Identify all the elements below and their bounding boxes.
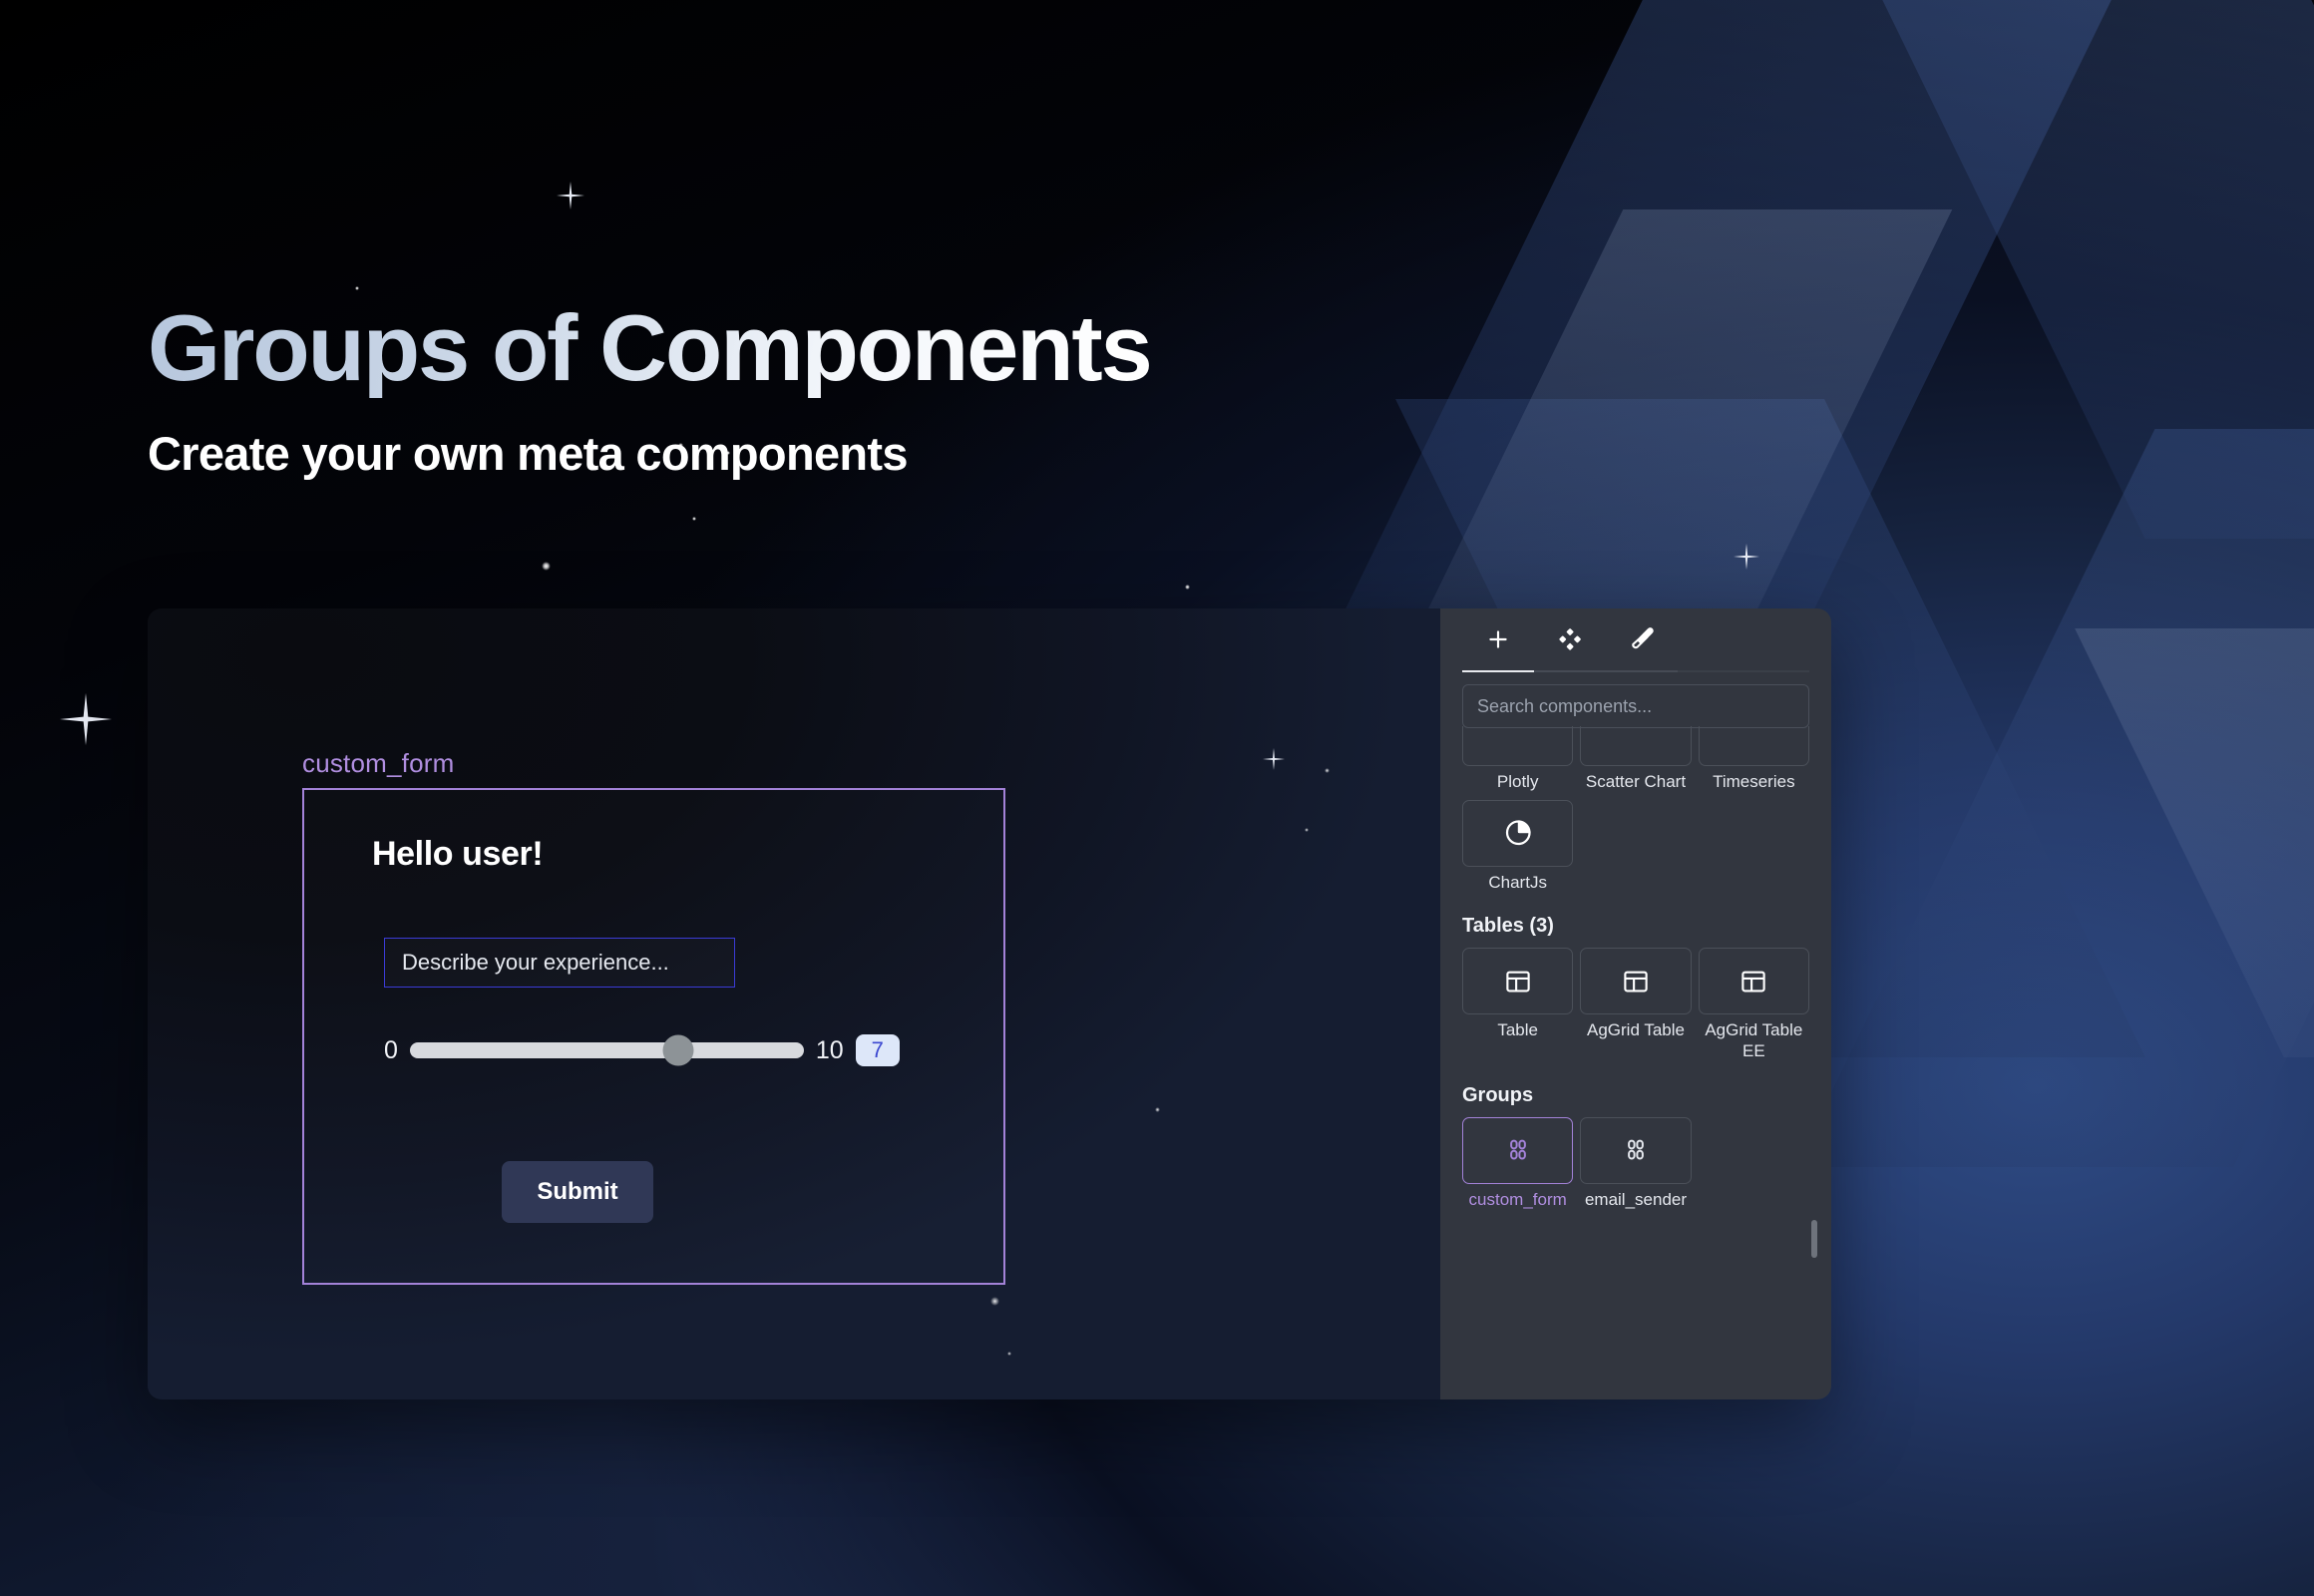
pie-chart-icon: [1503, 818, 1533, 848]
page-root: Groups of Components Create your own met…: [0, 0, 2314, 1596]
scatter-dots-icon: [1621, 726, 1651, 734]
component-group-custom-form[interactable]: custom_form: [1462, 1117, 1573, 1211]
app-window: custom_form Hello user! 0 10 7 Submit: [148, 608, 1831, 1399]
component-tile: [1462, 1117, 1573, 1184]
table-icon: [1621, 967, 1651, 997]
component-timeseries[interactable]: Timeseries: [1699, 726, 1809, 793]
panel-tab-bar: [1440, 608, 1831, 670]
component-label: custom_form: [1469, 1190, 1567, 1211]
component-label: Timeseries: [1713, 772, 1795, 793]
component-label: AgGrid Table: [1587, 1020, 1685, 1041]
panel-scrollbar-thumb[interactable]: [1811, 1220, 1817, 1258]
page-title: Groups of Components: [148, 299, 1151, 398]
component-tile: [1580, 726, 1691, 766]
groups-grid: custom_form email_sender: [1462, 1117, 1809, 1211]
search-input[interactable]: [1462, 684, 1809, 728]
group-icon: [1621, 1135, 1651, 1165]
hero-section: Groups of Components Create your own met…: [148, 299, 1151, 481]
component-label: email_sender: [1585, 1190, 1687, 1211]
slider-track[interactable]: [410, 1042, 804, 1058]
page-subtitle: Create your own meta components: [148, 426, 1151, 481]
slider-value-badge: 7: [856, 1034, 900, 1066]
diamonds-icon: [1557, 626, 1583, 652]
add-component-tab[interactable]: [1462, 614, 1534, 664]
slider-thumb[interactable]: [662, 1035, 693, 1066]
component-aggrid-table[interactable]: AgGrid Table: [1580, 948, 1691, 1061]
experience-text-input[interactable]: [384, 938, 735, 988]
table-icon: [1503, 967, 1533, 997]
component-label: Plotly: [1497, 772, 1539, 793]
component-plotly[interactable]: Plotly: [1462, 726, 1573, 793]
tab-active-indicator: [1462, 670, 1809, 672]
group-icon: [1503, 1135, 1533, 1165]
table-icon: [1738, 967, 1768, 997]
component-tile: [1462, 726, 1573, 766]
section-title-groups: Groups: [1462, 1084, 1809, 1107]
rating-slider-row: 0 10 7: [384, 1034, 900, 1066]
component-chartjs[interactable]: ChartJs: [1462, 800, 1573, 894]
group-container: custom_form Hello user! 0 10 7 Submit: [302, 748, 1005, 1285]
panel-scroll-area[interactable]: Plotly Scatter Chart: [1440, 726, 1831, 1399]
submit-button[interactable]: Submit: [502, 1161, 653, 1223]
component-label: Scatter Chart: [1586, 772, 1686, 793]
app-canvas[interactable]: custom_form Hello user! 0 10 7 Submit: [148, 608, 1440, 1399]
component-scatter-chart[interactable]: Scatter Chart: [1580, 726, 1691, 793]
charts-row-clipped: Plotly Scatter Chart: [1462, 726, 1809, 793]
group-box[interactable]: Hello user! 0 10 7 Submit: [302, 788, 1005, 1285]
search-wrapper: [1440, 672, 1831, 728]
plus-icon: [1485, 626, 1511, 652]
sparkle-icon: [1263, 748, 1285, 770]
canvas-star-dot: [1305, 828, 1309, 832]
component-table[interactable]: Table: [1462, 948, 1573, 1061]
component-tile: [1462, 800, 1573, 867]
tables-grid: Table AgGrid Table: [1462, 948, 1809, 1061]
component-label: Table: [1497, 1020, 1538, 1041]
components-tree-tab[interactable]: [1534, 614, 1606, 664]
component-label: AgGrid Table EE: [1699, 1020, 1809, 1061]
component-group-email-sender[interactable]: email_sender: [1580, 1117, 1691, 1211]
group-name-label: custom_form: [302, 748, 1005, 779]
form-heading: Hello user!: [372, 835, 543, 874]
canvas-star-dot: [990, 1297, 999, 1306]
canvas-star-dot: [1155, 1107, 1160, 1112]
styles-tab[interactable]: [1606, 614, 1678, 664]
scatter-dots-icon: [1738, 726, 1768, 734]
canvas-star-dot: [1325, 768, 1330, 773]
component-tile: [1462, 948, 1573, 1014]
component-tile: [1580, 948, 1691, 1014]
paintbrush-icon: [1629, 626, 1655, 652]
component-label: ChartJs: [1488, 873, 1547, 894]
slider-min-label: 0: [384, 1036, 398, 1065]
component-tile: [1699, 726, 1809, 766]
slider-max-label: 10: [816, 1036, 844, 1065]
component-tile: [1699, 948, 1809, 1014]
component-panel: Plotly Scatter Chart: [1440, 608, 1831, 1399]
section-title-tables: Tables (3): [1462, 915, 1809, 938]
charts-row-2: ChartJs: [1462, 800, 1809, 894]
canvas-star-dot: [1007, 1352, 1011, 1356]
component-tile: [1580, 1117, 1691, 1184]
component-aggrid-table-ee[interactable]: AgGrid Table EE: [1699, 948, 1809, 1061]
gauge-chart-icon: [1503, 726, 1533, 734]
